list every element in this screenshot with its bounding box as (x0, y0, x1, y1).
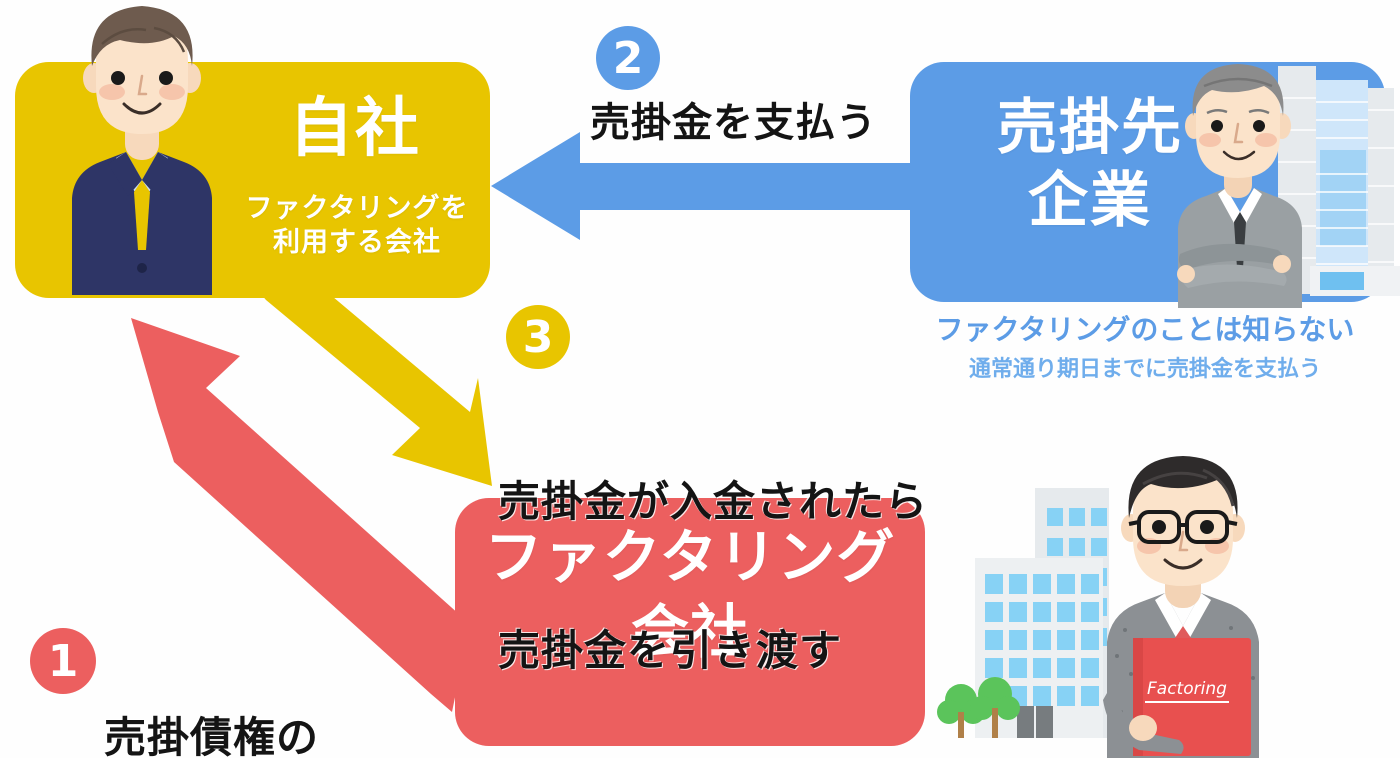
client-company-note-line1: ファクタリングのことは知らない (890, 308, 1400, 348)
own-company-title: 自社 (230, 96, 480, 163)
factoring-company-person-illustration: Factoring (935, 450, 1400, 758)
diagram-canvas: 自社 ファクタリングを 利用する会社 (0, 0, 1400, 758)
own-company-subtitle: ファクタリングを 利用する会社 (226, 192, 488, 260)
step-3-label-line2: 売掛金を引き渡す (498, 626, 928, 676)
own-company-person-illustration (42, 0, 242, 295)
client-company-title: 売掛先 企業 (940, 92, 1240, 238)
step-3-label-line1: 売掛金が入金されたら (498, 477, 928, 527)
step-1-number: 1 (30, 628, 96, 694)
step-2-number: 2 (596, 26, 660, 90)
step-1-label: 売掛債権の 買取代金を支払う (104, 614, 448, 758)
factoring-folder-label: Factoring (1147, 679, 1227, 699)
client-company-note: ファクタリングのことは知らない 通常通り期日までに売掛金を支払う (890, 308, 1400, 383)
step-3-number: 3 (506, 305, 570, 369)
own-company-subtitle-line2: 利用する会社 (226, 226, 488, 260)
client-company-title-line2: 企業 (940, 165, 1240, 238)
step-1-label-line1: 売掛債権の (104, 713, 448, 758)
step-3-label: 売掛金が入金されたら 売掛金を引き渡す (498, 378, 928, 758)
step-2-label: 売掛金を支払う (590, 100, 877, 147)
own-company-subtitle-line1: ファクタリングを (226, 192, 488, 226)
client-company-note-line2: 通常通り期日までに売掛金を支払う (890, 351, 1400, 383)
client-company-title-line1: 売掛先 (940, 92, 1240, 165)
